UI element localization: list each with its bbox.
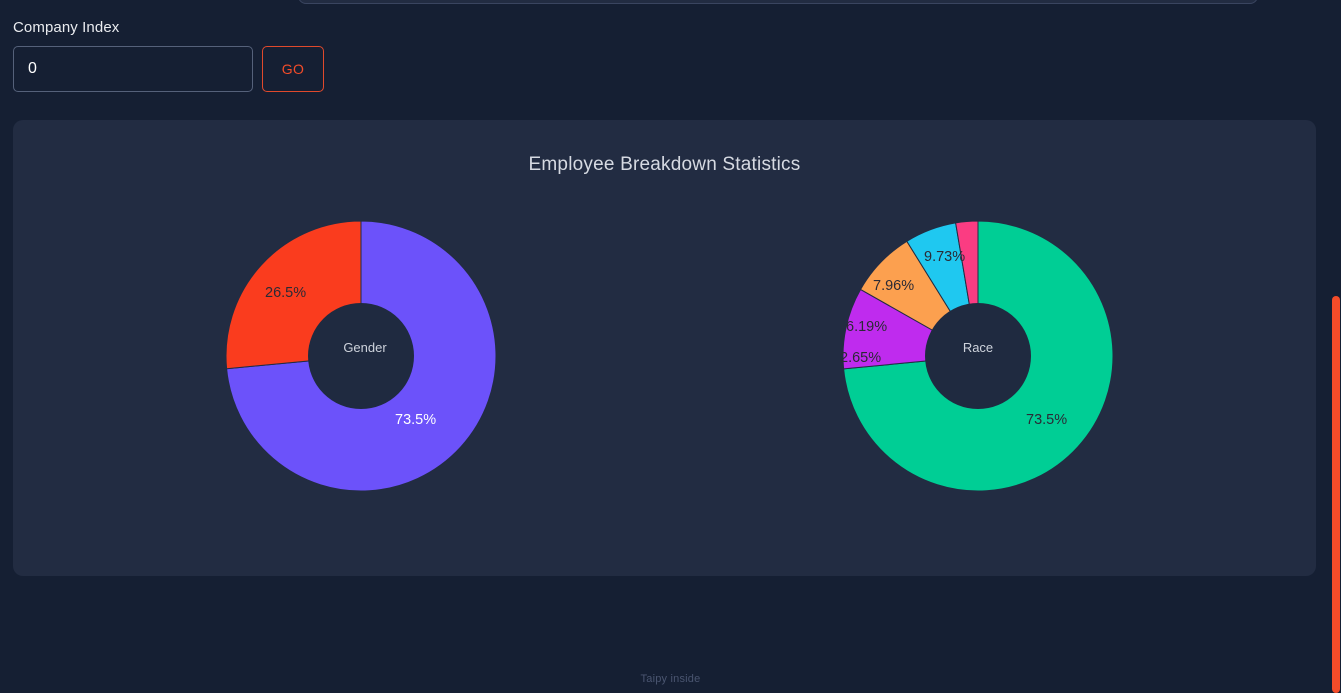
top-panel-edge [298, 0, 1258, 4]
company-index-row: GO [13, 46, 333, 92]
race-donut-hole [925, 303, 1031, 409]
company-index-label: Company Index [13, 18, 333, 38]
go-button[interactable]: GO [262, 46, 324, 92]
app-root: Company Index GO Employee Breakdown Stat… [0, 0, 1341, 693]
company-index-control: Company Index GO [13, 18, 333, 92]
gender-donut-svg [215, 208, 515, 504]
company-index-input[interactable] [13, 46, 253, 92]
page-scrollbar-thumb[interactable] [1332, 296, 1340, 693]
race-donut-svg [818, 208, 1118, 504]
footer-text: Taipy inside [0, 673, 1341, 685]
employee-breakdown-card: Employee Breakdown Statistics Gender 73.… [13, 120, 1316, 576]
gender-donut-chart[interactable]: Gender 73.5% 26.5% [215, 208, 515, 504]
gender-donut-hole [308, 303, 414, 409]
page-scrollbar-track[interactable] [1331, 0, 1341, 693]
race-donut-chart[interactable]: Race 73.5% 9.73% 7.96% 6.19% 2.65% [818, 208, 1118, 504]
charts-area: Gender 73.5% 26.5% Race 73.5% 9.73% 7.96… [13, 208, 1316, 508]
page-title: Employee Breakdown Statistics [13, 154, 1316, 176]
